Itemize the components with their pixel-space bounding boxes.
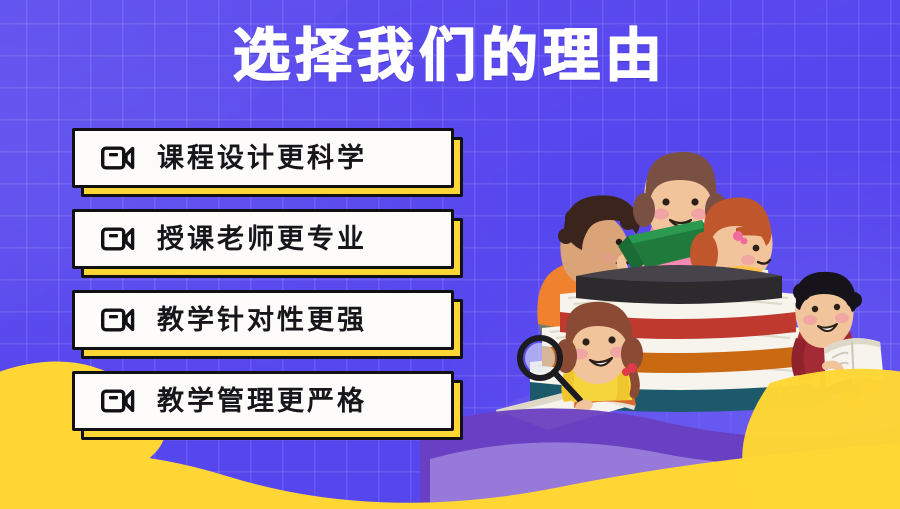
feature-card[interactable]: 授课老师更专业: [72, 209, 454, 269]
feature-item-2[interactable]: 授课老师更专业: [72, 209, 464, 272]
video-camera-icon: [101, 227, 135, 251]
feature-item-3[interactable]: 教学针对性更强: [72, 290, 464, 353]
feature-card[interactable]: 课程设计更科学: [72, 128, 454, 188]
video-camera-icon: [101, 308, 135, 332]
video-camera-icon: [101, 146, 135, 170]
feature-label: 课程设计更科学: [157, 143, 367, 173]
page-title: 选择我们的理由: [0, 18, 900, 94]
poster-canvas: 选择我们的理由 课程设计更科学 授课老师更专业: [0, 0, 900, 509]
feature-card[interactable]: 教学针对性更强: [72, 290, 454, 350]
feature-card[interactable]: 教学管理更严格: [72, 371, 454, 431]
feature-label: 授课老师更专业: [157, 224, 367, 254]
video-camera-icon: [101, 389, 135, 413]
feature-item-1[interactable]: 课程设计更科学: [72, 128, 464, 191]
wave-yellow-right: [742, 369, 900, 509]
feature-list: 课程设计更科学 授课老师更专业 教学: [72, 128, 464, 452]
feature-item-4[interactable]: 教学管理更严格: [72, 371, 464, 434]
feature-label: 教学管理更严格: [157, 386, 367, 416]
feature-label: 教学针对性更强: [157, 305, 367, 335]
